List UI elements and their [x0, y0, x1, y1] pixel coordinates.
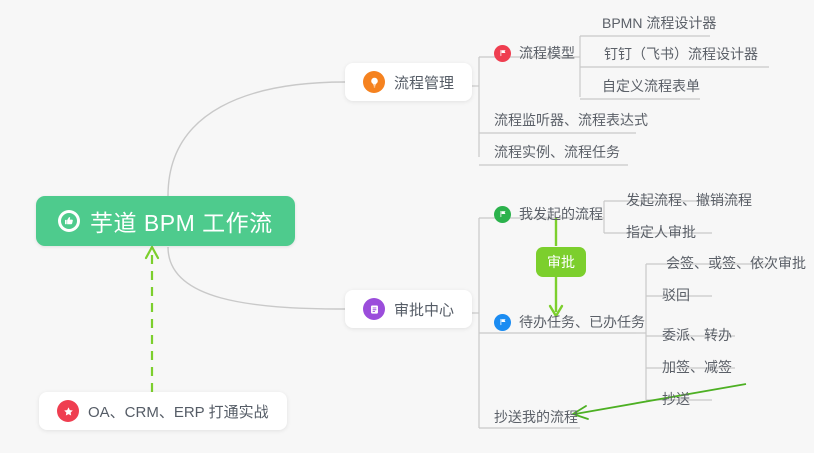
node-label: 流程实例、流程任务 [494, 142, 620, 162]
node-label: 指定人审批 [626, 222, 696, 242]
node-start-cancel-process[interactable]: 发起流程、撤销流程 [624, 187, 756, 213]
node-label: 驳回 [662, 285, 690, 305]
node-reject[interactable]: 驳回 [660, 282, 694, 308]
node-label: 抄送我的流程 [494, 407, 578, 427]
node-delegate-transfer[interactable]: 委派、转办 [660, 322, 736, 348]
node-label: 会签、或签、依次审批 [666, 253, 806, 273]
node-label: 流程监听器、流程表达式 [494, 110, 648, 130]
node-todo-done-tasks[interactable]: 待办任务、已办任务 [492, 309, 649, 335]
node-process-model[interactable]: 流程模型 [492, 40, 579, 66]
node-cc[interactable]: 抄送 [660, 386, 694, 412]
root-label: 芋道 BPM 工作流 [90, 204, 273, 238]
approval-tag-label: 审批 [547, 252, 575, 272]
node-label: 发起流程、撤销流程 [626, 190, 752, 210]
approval-tag[interactable]: 审批 [536, 247, 586, 277]
lightbulb-icon [363, 71, 385, 93]
branch-approval-center[interactable]: 审批中心 [345, 290, 472, 328]
branch-process-management[interactable]: 流程管理 [345, 63, 472, 101]
flag-icon [494, 45, 511, 62]
branch-label: 流程管理 [394, 72, 454, 93]
node-label: 待办任务、已办任务 [519, 312, 645, 332]
node-label: 流程模型 [519, 43, 575, 63]
node-label: 抄送 [662, 389, 690, 409]
node-label: 自定义流程表单 [602, 76, 700, 96]
thumbs-up-icon [58, 210, 80, 232]
node-assignee-approval[interactable]: 指定人审批 [624, 219, 700, 245]
node-listener-expression[interactable]: 流程监听器、流程表达式 [492, 107, 652, 133]
mindmap-canvas: 芋道 BPM 工作流 流程管理 流程模型 BPMN 流程设计器 钉钉（飞书）流程… [0, 0, 814, 453]
footer-node-integration[interactable]: OA、CRM、ERP 打通实战 [39, 392, 287, 430]
star-icon [57, 400, 79, 422]
node-countersign[interactable]: 会签、或签、依次审批 [664, 250, 810, 276]
node-instance-task[interactable]: 流程实例、流程任务 [492, 139, 624, 165]
node-add-remove-sign[interactable]: 加签、减签 [660, 354, 736, 380]
clipboard-icon [363, 298, 385, 320]
root-node[interactable]: 芋道 BPM 工作流 [36, 196, 295, 246]
flag-icon [494, 206, 511, 223]
node-dingtalk-designer[interactable]: 钉钉（飞书）流程设计器 [602, 41, 762, 67]
node-my-initiated-process[interactable]: 我发起的流程 [492, 201, 607, 227]
footer-node-label: OA、CRM、ERP 打通实战 [88, 401, 269, 422]
node-label: 我发起的流程 [519, 204, 603, 224]
flag-icon [494, 314, 511, 331]
node-custom-form[interactable]: 自定义流程表单 [600, 73, 704, 99]
node-label: BPMN 流程设计器 [602, 13, 716, 33]
node-label: 加签、减签 [662, 357, 732, 377]
node-label: 委派、转办 [662, 325, 732, 345]
node-bpmn-designer[interactable]: BPMN 流程设计器 [600, 10, 720, 36]
branch-label: 审批中心 [394, 299, 454, 320]
node-label: 钉钉（飞书）流程设计器 [604, 44, 758, 64]
node-cc-to-me[interactable]: 抄送我的流程 [492, 404, 582, 430]
